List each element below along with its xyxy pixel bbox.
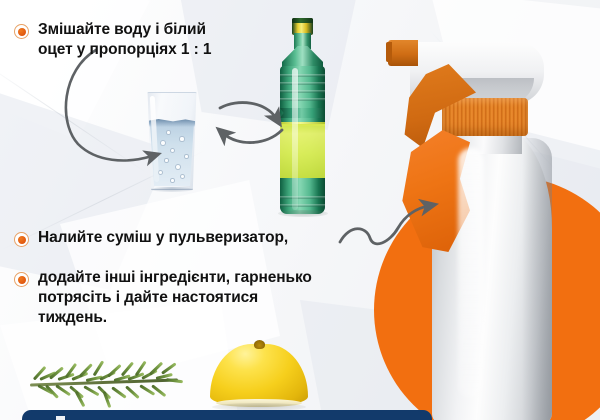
step-2-text: Налийте суміш у пульверизатор,: [38, 228, 288, 248]
step-3-text: додайте інші інгредієнти, гарненько потр…: [38, 268, 312, 328]
spray-collar-ribbed: [442, 98, 528, 136]
bottle-cap-top: [292, 18, 313, 23]
bottle-rib: [280, 90, 325, 93]
bottle-rib: [280, 204, 325, 207]
rosemary-needle: [93, 360, 105, 376]
rosemary-needle: [107, 364, 122, 378]
lemon-stem-nub: [254, 340, 265, 349]
bottle-highlight: [292, 68, 298, 210]
water-bubble: [180, 174, 185, 179]
spray-bottle-edge-shadow: [522, 138, 552, 420]
rosemary-needle: [79, 363, 93, 377]
bottle-shoulder: [282, 46, 323, 68]
banner-badge-icon: [56, 416, 65, 420]
spray-bottle-highlight: [458, 148, 484, 398]
rosemary-needle: [166, 378, 183, 384]
bottle-rib: [280, 82, 325, 85]
step-3: додайте інші інгредієнти, гарненько потр…: [14, 268, 359, 328]
lemon-peel: [210, 344, 308, 406]
water-bubble: [170, 178, 175, 183]
rosemary-sprig: [20, 348, 190, 406]
lemon-half: [210, 344, 308, 406]
bottle-rib: [280, 74, 325, 77]
rosemary-needle: [111, 386, 127, 399]
step-2: Налийте суміш у пульверизатор,: [14, 228, 344, 248]
arrow-glass-vinegar-mix: [214, 96, 288, 154]
spray-nozzle-tip: [386, 42, 392, 62]
orange-bullet-icon: [14, 24, 29, 39]
bottom-navy-banner: [22, 410, 432, 420]
bottle-rib: [280, 196, 325, 199]
orange-bullet-icon: [14, 232, 29, 247]
bottle-shadow: [278, 210, 328, 217]
infographic-canvas: Змішайте воду і білий оцет у пропорціях …: [0, 0, 600, 420]
spray-nozzle: [388, 40, 418, 66]
arrow-to-spray-bottle: [336, 198, 440, 260]
orange-bullet-icon: [14, 272, 29, 287]
step-1: Змішайте воду і білий оцет у пропорціях …: [14, 20, 264, 60]
arrow-text-to-glass: [56, 44, 216, 174]
rosemary-needle: [125, 385, 140, 399]
step-1-text: Змішайте воду і білий оцет у пропорціях …: [38, 20, 211, 60]
glass-shadow: [151, 187, 193, 192]
